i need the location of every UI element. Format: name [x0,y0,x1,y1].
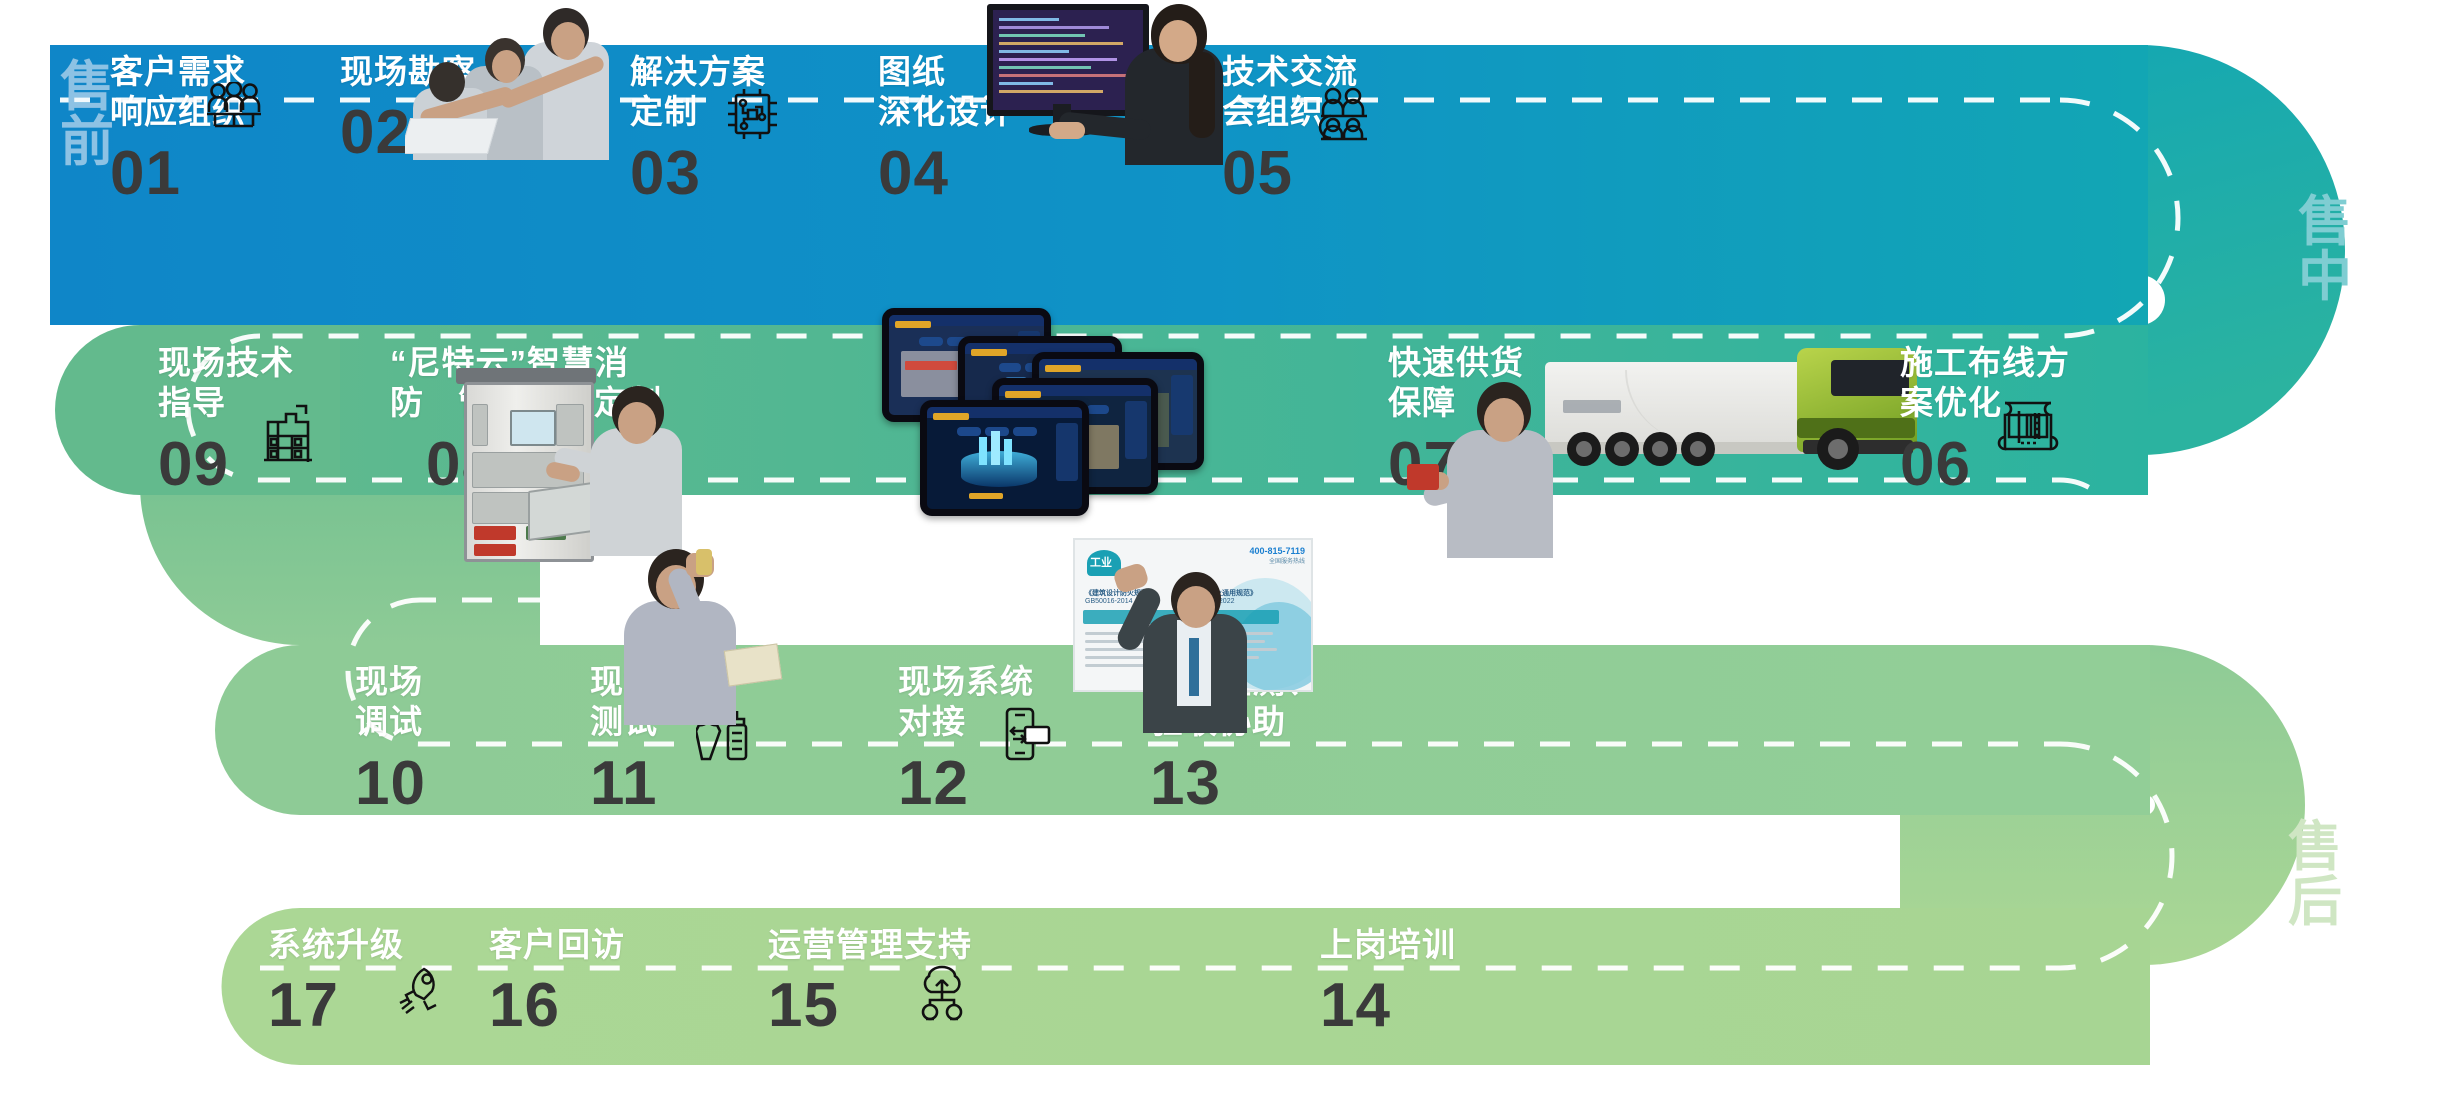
step-13-number: 13 [1150,753,1320,815]
stage-label-char: 中 [2298,250,2354,305]
board-phone: 400-815-7119 [1249,546,1305,556]
step-01-number: 01 [110,143,246,205]
circuit-chip-icon [722,85,782,143]
training-photo: 工业 400-815-7119 全国服务热线 《建筑设计防火规范》 GB5001… [1065,538,1325,733]
phone-sync-icon [1003,705,1051,763]
tablet-mock [920,400,1089,516]
blueprint-icon [1995,395,2061,457]
people-group-icon [205,82,263,130]
stage-label-pre-sales: 售 前 [60,60,116,170]
meeting-people-icon [1315,85,1371,141]
stage-label-char: 售 [2298,195,2354,250]
factory-icon [262,400,314,462]
board-code-1-no: GB50016-2014 [1085,598,1132,605]
step-17-number: 17 [268,975,404,1037]
network-node-icon [915,960,969,1022]
stage-label-char: 后 [2288,875,2344,930]
step-10-number: 10 [355,753,426,815]
acceptance-photo [1405,368,1595,558]
step-05-number: 05 [1222,143,1358,205]
rocket-icon [396,963,452,1017]
board-phone-sub: 全国服务热线 [1249,556,1305,565]
step-16[interactable]: 客户回访 16 [489,925,625,1037]
rocket-icon [396,608,450,662]
board-tag-text: 工业 [1090,554,1112,570]
commissioning-photo [450,368,710,556]
step-17-title: 系统升级 [268,925,404,965]
step-14-number: 14 [1320,975,1456,1037]
stage-label-in-sales: 售 中 [2298,195,2354,305]
stage-label-char: 售 [2288,820,2344,875]
step-14[interactable]: 上岗培训 14 [1320,925,1456,1037]
step-16-number: 16 [489,975,625,1037]
infographic-canvas: 售 前 客户需求 响应组织 01 现场勘察 02 解决方案 定制 03 图纸 深… [0,0,2448,1116]
stage-label-post-sales: 售 后 [2288,820,2344,930]
step-16-title: 客户回访 [489,925,625,965]
drawing-design-photo [975,0,1240,165]
site-survey-photo [405,0,660,160]
stage-label-char: 售 [60,60,116,115]
step-10[interactable]: 现场 调试 10 [355,662,426,815]
callback-photo [600,535,780,725]
step-17[interactable]: 系统升级 17 [268,925,404,1037]
step-14-title: 上岗培训 [1320,925,1456,965]
stage-label-char: 前 [60,115,116,170]
cloud-platform-tablets [880,300,1200,530]
step-10-title: 现场 调试 [355,662,426,743]
